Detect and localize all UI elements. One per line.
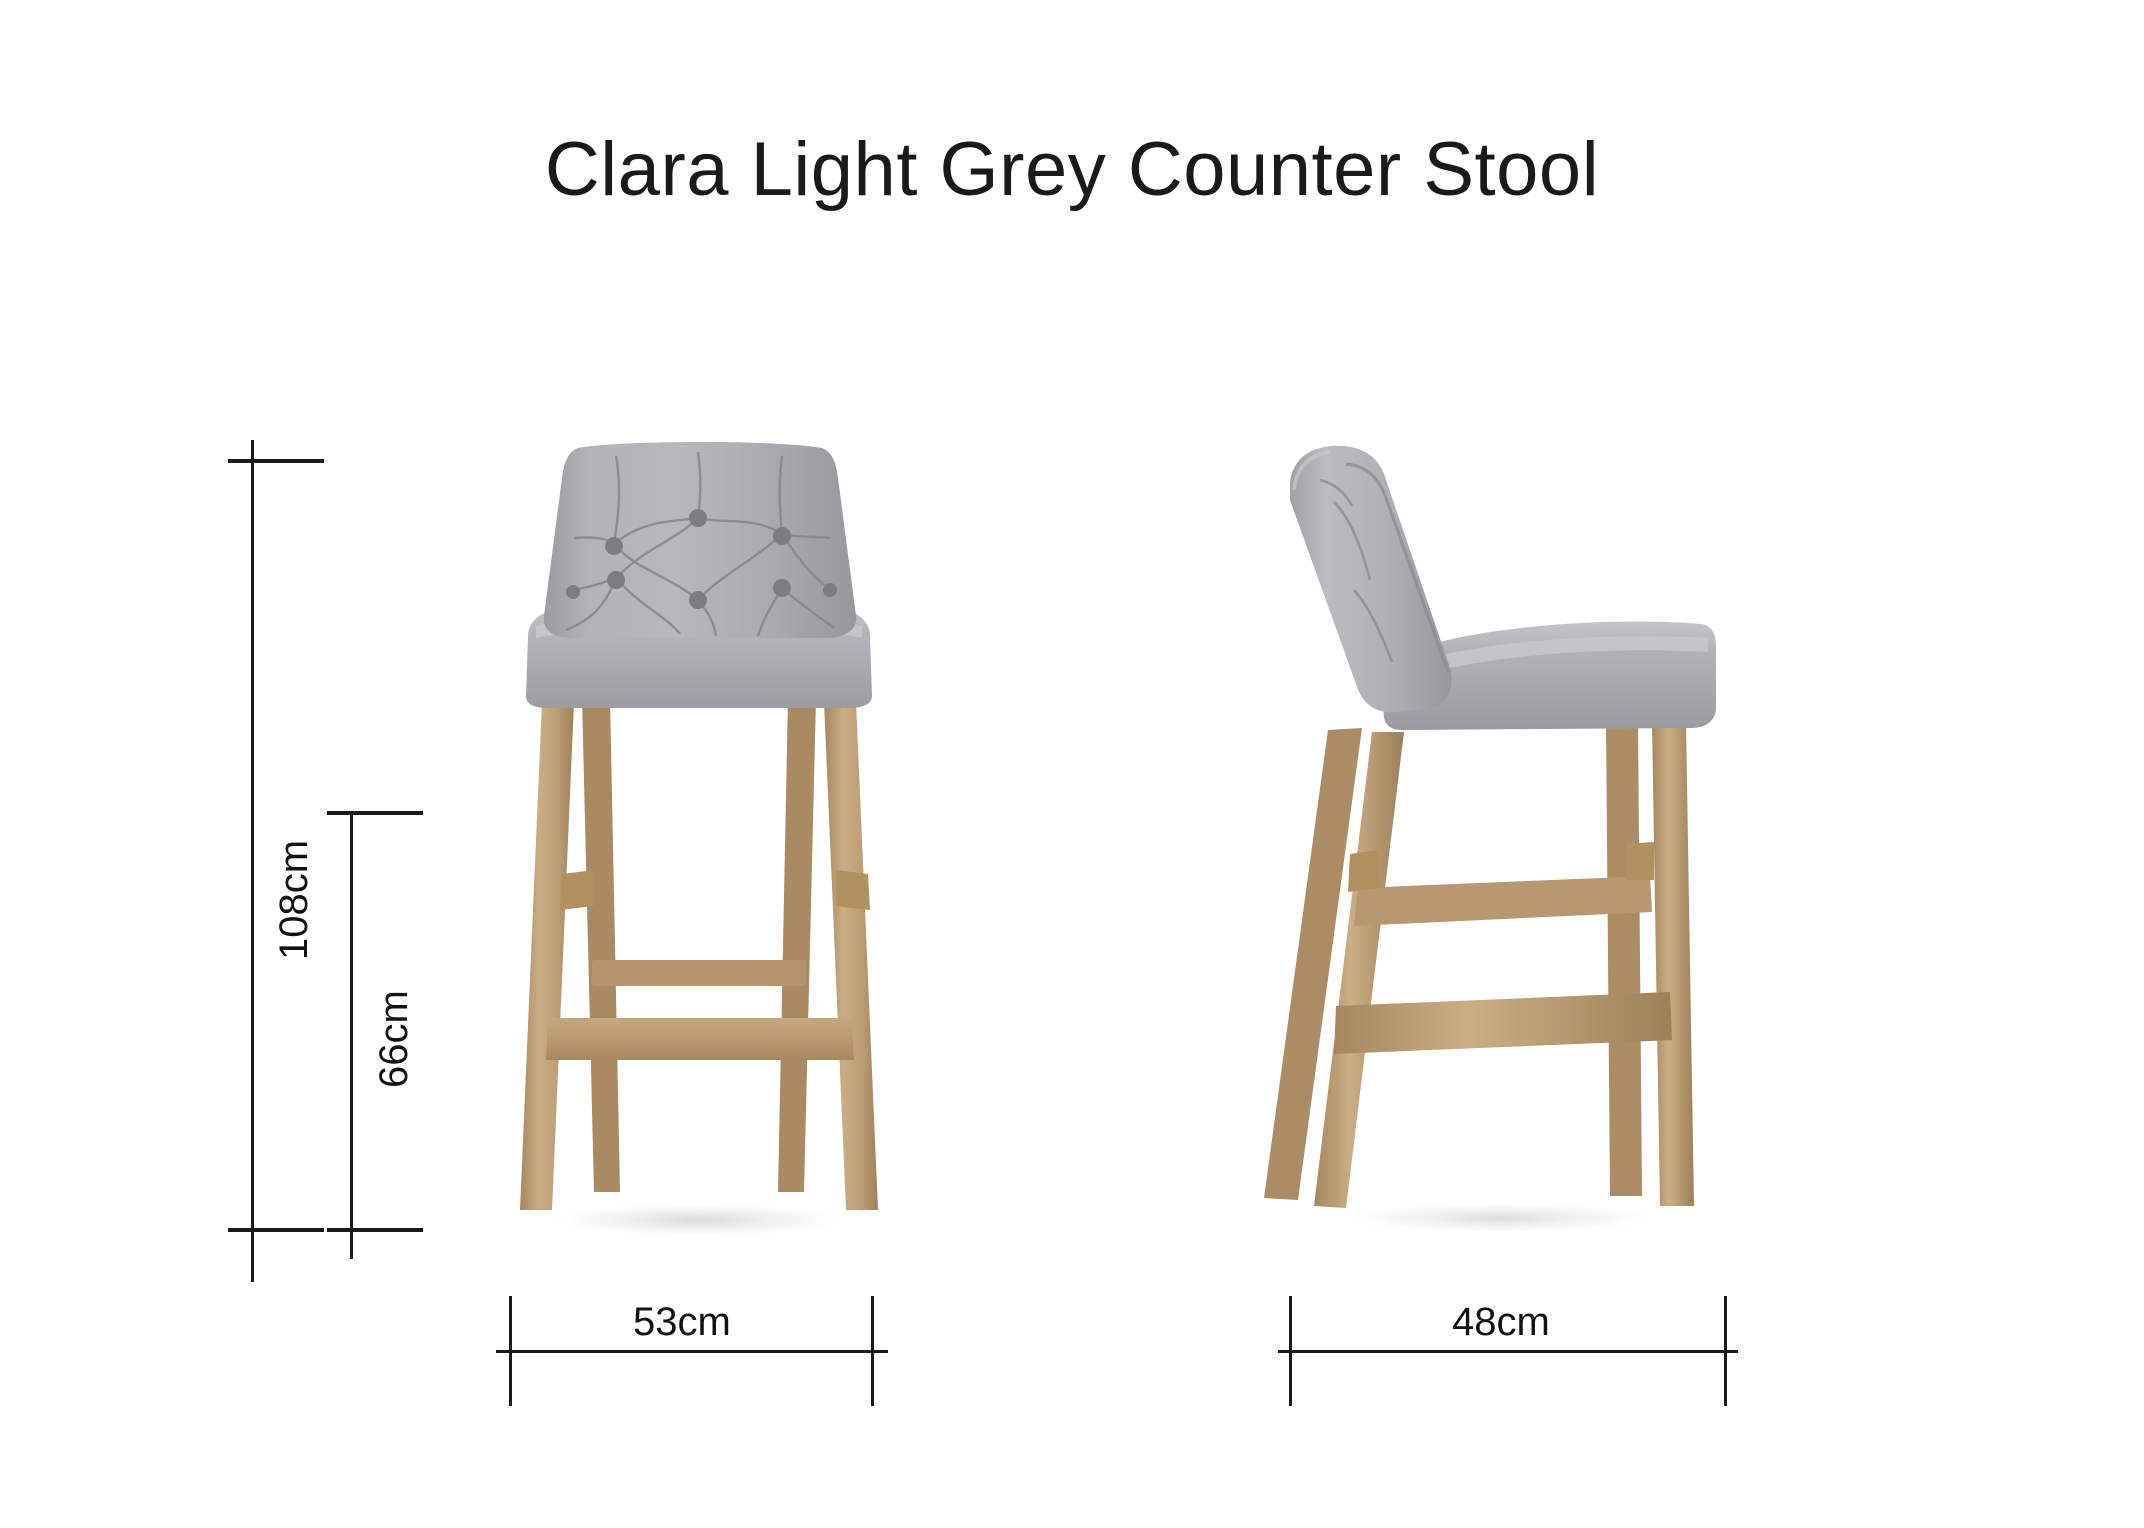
footrest-rail-upper bbox=[592, 960, 806, 986]
floor-shadow bbox=[548, 1203, 848, 1237]
side-view-legs bbox=[1264, 722, 1694, 1208]
dimension-label-108cm: 108cm bbox=[272, 840, 317, 960]
dimension-label-66cm: 66cm bbox=[372, 990, 417, 1088]
page-title: Clara Light Grey Counter Stool bbox=[0, 126, 2144, 213]
dimension-label-48cm: 48cm bbox=[1452, 1300, 1550, 1345]
dimension-tick-top-108 bbox=[228, 459, 324, 463]
dimension-line-horizontal-53 bbox=[496, 1350, 888, 1353]
dimension-diagram-page: Clara Light Grey Counter Stool 108cm 66c… bbox=[0, 0, 2144, 1528]
dimension-label-53cm: 53cm bbox=[633, 1300, 731, 1345]
dimension-line-horizontal-48 bbox=[1278, 1350, 1738, 1353]
dimension-tick-left-53 bbox=[509, 1296, 512, 1406]
dimension-tick-bottom-108 bbox=[228, 1228, 324, 1232]
footrest-rail-front bbox=[546, 1018, 854, 1060]
dimension-tick-left-48 bbox=[1289, 1296, 1292, 1406]
side-view-backrest bbox=[1290, 446, 1452, 712]
floor-shadow bbox=[1340, 1202, 1660, 1234]
front-view-legs bbox=[520, 698, 878, 1210]
dimension-line-vertical-108 bbox=[251, 440, 254, 1282]
dimension-tick-bottom-66 bbox=[327, 1228, 423, 1232]
dimension-tick-right-48 bbox=[1724, 1296, 1727, 1406]
front-view-backrest bbox=[544, 442, 856, 638]
side-view-chair-figure bbox=[1250, 440, 1770, 1250]
front-view-chair-figure bbox=[470, 440, 920, 1250]
dimension-line-vertical-66 bbox=[350, 812, 353, 1259]
dimension-tick-top-66 bbox=[327, 811, 423, 815]
dimension-tick-right-53 bbox=[871, 1296, 874, 1406]
